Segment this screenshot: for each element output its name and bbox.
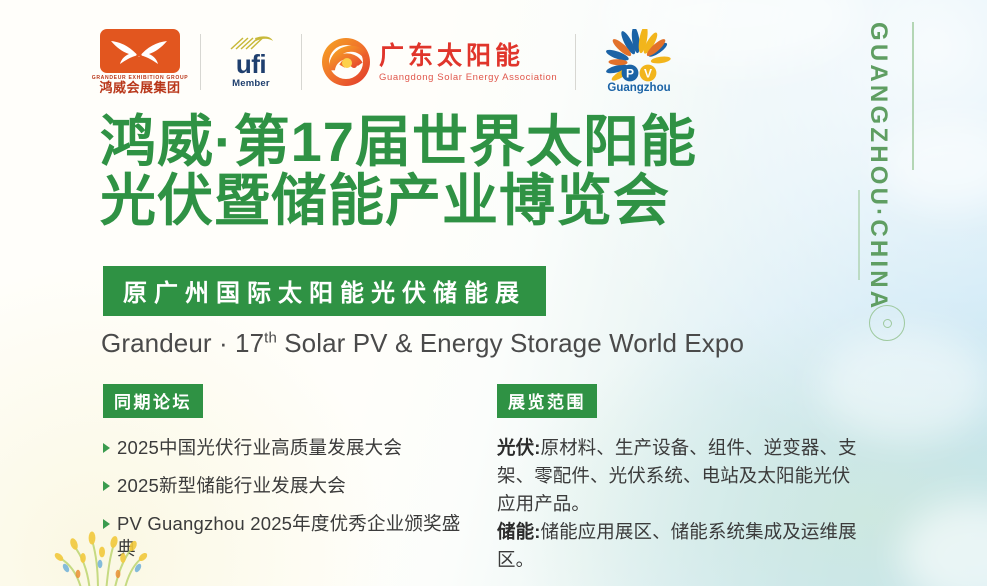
solar-swirl-icon bbox=[320, 36, 372, 88]
grandeur-english-name: GRANDEUR EXHIBITION GROUP bbox=[92, 74, 189, 80]
scope-text: 光伏:原材料、生产设备、组件、逆变器、支架、零配件、光伏系统、电站及太阳能光伏应… bbox=[497, 434, 867, 574]
main-title: 鸿威·第17届世界太阳能 光伏暨储能产业博览会 bbox=[100, 112, 830, 230]
svg-text:Guangzhou: Guangzhou bbox=[608, 82, 671, 94]
triangle-bullet-icon bbox=[103, 443, 110, 453]
scope-entry-pv: 光伏:原材料、生产设备、组件、逆变器、支架、零配件、光伏系统、电站及太阳能光伏应… bbox=[497, 434, 867, 518]
location-vertical-text: GUANGZHOU·CHINA bbox=[862, 22, 892, 312]
logo-divider bbox=[200, 34, 201, 90]
ufi-wordmark: ufi bbox=[236, 51, 266, 77]
cloud-decoration bbox=[900, 500, 987, 586]
ufi-swoosh-icon bbox=[227, 35, 275, 51]
svg-text:P: P bbox=[626, 67, 634, 81]
flora-decoration bbox=[30, 512, 220, 586]
pv-guangzhou-sunburst-icon: P V Guangzhou bbox=[594, 29, 684, 95]
vertical-rule-decoration bbox=[912, 22, 914, 170]
scope-entry-pv-label: 光伏: bbox=[497, 437, 540, 458]
logo-guangdong-solar-energy-association: 广东太阳能 Guangdong Solar Energy Association bbox=[320, 26, 557, 98]
logo-ufi-member: ufi Member bbox=[219, 26, 283, 98]
scope-badge: 展览范围 bbox=[497, 384, 597, 418]
english-title-after: Solar PV & Energy Storage World Expo bbox=[277, 328, 744, 358]
scope-entry-storage-text: 储能应用展区、储能系统集成及运维展区。 bbox=[497, 521, 857, 570]
grandeur-wings-icon bbox=[100, 29, 180, 73]
list-item[interactable]: 2025新型储能行业发展大会 bbox=[103, 473, 478, 498]
logo-pv-guangzhou: P V Guangzhou bbox=[594, 26, 684, 98]
cloud-decoration bbox=[880, 120, 987, 210]
english-title-ordinal: th bbox=[264, 329, 277, 346]
scope-entry-pv-text: 原材料、生产设备、组件、逆变器、支架、零配件、光伏系统、电站及太阳能光伏应用产品… bbox=[497, 437, 857, 514]
grandeur-chinese-name: 鸿威会展集团 bbox=[99, 81, 180, 95]
logo-grandeur-exhibition-group: GRANDEUR EXHIBITION GROUP 鸿威会展集团 bbox=[98, 26, 182, 98]
sponsor-logo-strip: GRANDEUR EXHIBITION GROUP 鸿威会展集团 ufi bbox=[98, 26, 684, 98]
poster-canvas: GRANDEUR EXHIBITION GROUP 鸿威会展集团 ufi bbox=[0, 0, 987, 586]
list-item[interactable]: 2025中国光伏行业高质量发展大会 bbox=[103, 435, 478, 460]
former-name-banner: 原广州国际太阳能光伏储能展 bbox=[103, 266, 546, 316]
forum-badge: 同期论坛 bbox=[103, 384, 203, 418]
english-title: Grandeur · 17th Solar PV & Energy Storag… bbox=[101, 328, 744, 359]
svg-text:V: V bbox=[644, 67, 652, 81]
scope-entry-storage-label: 储能: bbox=[497, 521, 540, 542]
ufi-member-label: Member bbox=[232, 78, 270, 89]
main-title-line-1: 鸿威·第17届世界太阳能 bbox=[100, 112, 830, 171]
main-title-line-2: 光伏暨储能产业博览会 bbox=[100, 171, 830, 230]
logo-divider bbox=[575, 34, 576, 90]
scope-entry-storage: 储能:储能应用展区、储能系统集成及运维展区。 bbox=[497, 518, 867, 574]
gdsea-english-name: Guangdong Solar Energy Association bbox=[379, 72, 557, 83]
circle-decoration-icon bbox=[869, 305, 905, 341]
scope-column: 展览范围 光伏:原材料、生产设备、组件、逆变器、支架、零配件、光伏系统、电站及太… bbox=[497, 384, 867, 574]
logo-divider bbox=[301, 34, 302, 90]
gdsea-chinese-name: 广东太阳能 bbox=[379, 42, 557, 70]
triangle-bullet-icon bbox=[103, 481, 110, 491]
forum-item-label: 2025中国光伏行业高质量发展大会 bbox=[117, 435, 402, 460]
english-title-before: Grandeur · 17 bbox=[101, 328, 264, 358]
forum-item-label: 2025新型储能行业发展大会 bbox=[117, 473, 346, 498]
vertical-rule-decoration bbox=[858, 190, 860, 280]
